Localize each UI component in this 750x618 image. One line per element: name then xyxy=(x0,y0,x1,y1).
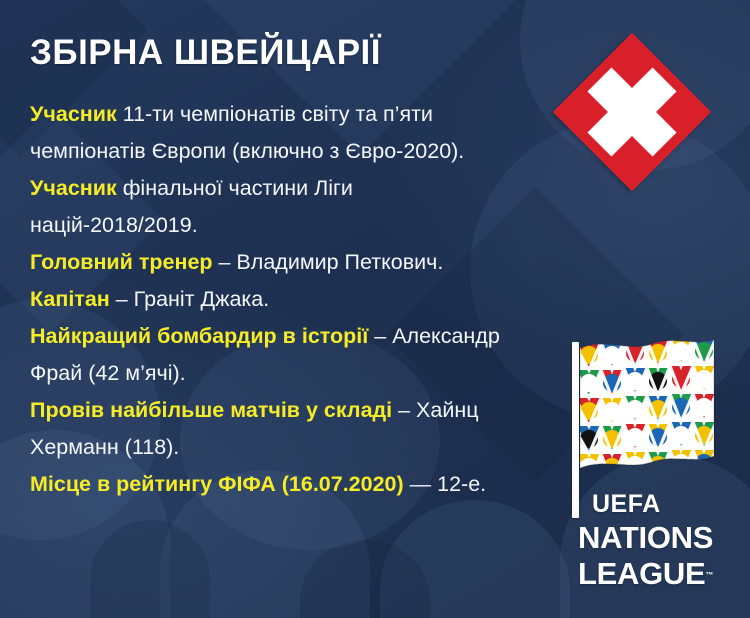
wordmark-line-uefa: UEFA xyxy=(578,492,716,517)
fact-label: Капітан xyxy=(30,287,110,311)
wordmark-line-nations: NATIONS xyxy=(578,522,716,553)
trademark-symbol: ™ xyxy=(705,571,713,580)
fact-item: Провів найбільше матчів у складі – Хайнц… xyxy=(30,392,500,466)
fact-label: Учасник xyxy=(30,176,117,200)
nations-league-flag-icon xyxy=(578,338,716,490)
fact-value: — 12-е. xyxy=(404,472,486,496)
uefa-nations-league-logo: UEFA NATIONS LEAGUE™ xyxy=(566,336,716,568)
wordmark-line-league: LEAGUE xyxy=(578,558,705,589)
page-title: ЗБІРНА ШВЕЙЦАРІЇ xyxy=(30,30,381,76)
fact-label: Місце в рейтингу ФІФА (16.07.2020) xyxy=(30,472,404,496)
uefa-nations-league-wordmark: UEFA NATIONS LEAGUE™ xyxy=(578,492,716,589)
fact-label: Найкращий бомбардир в історії xyxy=(30,324,368,348)
fact-item: Учасник 11-ти чемпіонатів світу та п’яти… xyxy=(30,96,500,170)
fact-label: Учасник xyxy=(30,102,117,126)
swiss-flag-emblem xyxy=(553,33,711,191)
fact-item: Головний тренер – Владимир Петкович. xyxy=(30,244,500,281)
fact-value: – Владимир Петкович. xyxy=(213,250,444,274)
fact-item: Місце в рейтингу ФІФА (16.07.2020) — 12-… xyxy=(30,466,500,503)
text-column: ЗБІРНА ШВЕЙЦАРІЇ Учасник 11-ти чемпіонат… xyxy=(30,0,500,618)
fact-item: Найкращий бомбардир в історії – Александ… xyxy=(30,318,500,392)
fact-item: Учасник фінальної частини Ліги націй-201… xyxy=(30,170,500,244)
fact-label: Провів найбільше матчів у складі xyxy=(30,398,392,422)
facts-list: Учасник 11-ти чемпіонатів світу та п’яти… xyxy=(30,96,500,503)
fact-value: – Граніт Джака. xyxy=(110,287,269,311)
swiss-flag-square xyxy=(553,33,711,191)
infographic-card: ЗБІРНА ШВЕЙЦАРІЇ Учасник 11-ти чемпіонат… xyxy=(0,0,750,618)
fact-label: Головний тренер xyxy=(30,250,213,274)
fact-item: Капітан – Граніт Джака. xyxy=(30,281,500,318)
